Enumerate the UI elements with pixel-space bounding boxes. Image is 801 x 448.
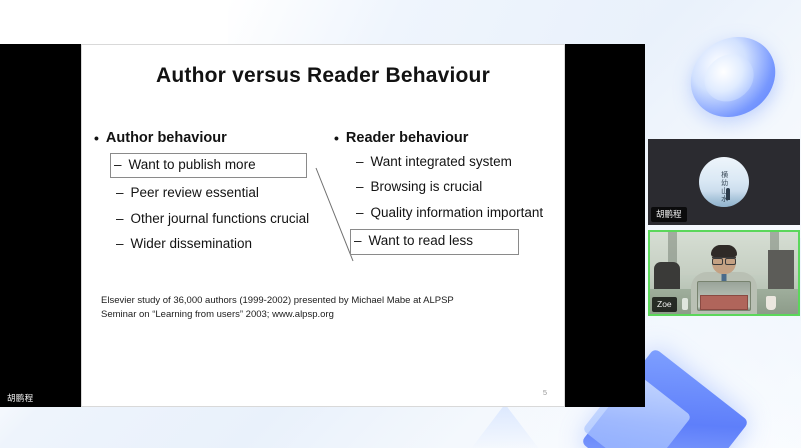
letterbox-left <box>0 44 81 407</box>
bullet-label: Want to publish more <box>129 157 256 173</box>
dash-glyph: – <box>116 185 124 201</box>
participant-tile-1[interactable]: 横幼山水 胡鹏程 <box>648 139 800 225</box>
video-laptop <box>697 281 751 311</box>
footnote-line-1: Elsevier study of 36,000 authors (1999-2… <box>101 294 541 308</box>
bullet-label: Want to read less <box>369 233 474 249</box>
bullet-glyph: • <box>94 130 99 146</box>
avatar-figure <box>726 188 730 200</box>
shared-screen-region[interactable]: Author versus Reader Behaviour • Author … <box>0 0 645 407</box>
bullet-want-integrated-system[interactable]: – Want integrated system <box>353 153 561 172</box>
glasses-icon <box>712 257 736 264</box>
dash-glyph: – <box>116 236 124 252</box>
bullet-browsing-is-crucial[interactable]: – Browsing is crucial <box>353 178 561 197</box>
column-author-behaviour: • Author behaviour – Want to publish mor… <box>91 130 341 261</box>
participant-name-label: Zoe <box>652 297 677 313</box>
bullet-label: Peer review essential <box>131 185 259 201</box>
bullet-want-to-read-less[interactable]: – Want to read less <box>350 229 519 254</box>
participant-video-strip: 横幼山水 胡鹏程 <box>645 0 801 448</box>
presentation-slide[interactable]: Author versus Reader Behaviour • Author … <box>81 44 565 407</box>
dash-glyph: – <box>116 211 124 227</box>
reader-bullet-list: – Want integrated system – Browsing is c… <box>331 153 561 255</box>
avatar: 横幼山水 <box>699 157 749 207</box>
video-cup <box>766 296 776 310</box>
column-heading-label: Reader behaviour <box>346 130 469 147</box>
zoom-meeting-window: Author versus Reader Behaviour • Author … <box>0 0 801 448</box>
bullet-label: Want integrated system <box>371 154 512 170</box>
letterbox-right <box>565 44 645 407</box>
bullet-label: Wider dissemination <box>131 236 253 252</box>
dash-glyph: – <box>114 157 122 173</box>
video-bottle <box>682 298 688 310</box>
video-nameplate <box>700 295 748 310</box>
dash-glyph: – <box>356 179 364 195</box>
participant-tile-2[interactable]: Zoe <box>648 230 800 316</box>
bullet-glyph: • <box>334 130 339 146</box>
video-chair <box>654 262 680 292</box>
footnote-line-2: Seminar on “Learning from users” 2003; w… <box>101 308 541 322</box>
slide-number: 5 <box>543 388 547 397</box>
author-bullet-list: – Want to publish more – Peer review ess… <box>91 153 341 255</box>
bullet-wider-dissemination[interactable]: – Wider dissemination <box>113 235 341 254</box>
bullet-peer-review-essential[interactable]: – Peer review essential <box>113 184 341 203</box>
bullet-other-journal-functions-crucial[interactable]: – Other journal functions crucial <box>113 210 341 229</box>
dash-glyph: – <box>356 205 364 221</box>
shared-screen-presenter-name: 胡鹏程 <box>2 391 38 407</box>
bullet-quality-information-important[interactable]: – Quality information important <box>353 204 561 223</box>
dash-glyph: – <box>354 233 362 249</box>
share-top-band-sheen <box>228 0 645 44</box>
bullet-label: Quality information important <box>371 205 544 221</box>
column-heading-author: • Author behaviour <box>91 130 341 147</box>
video-person-hair <box>711 245 737 257</box>
slide-title: Author versus Reader Behaviour <box>81 64 565 88</box>
column-heading-reader: • Reader behaviour <box>331 130 561 147</box>
bullet-want-to-publish-more[interactable]: – Want to publish more <box>110 153 307 178</box>
column-reader-behaviour: • Reader behaviour – Want integrated sys… <box>331 130 561 261</box>
column-heading-label: Author behaviour <box>106 130 227 147</box>
participant-name-label: 胡鹏程 <box>651 207 687 223</box>
slide-footnote: Elsevier study of 36,000 authors (1999-2… <box>101 294 541 322</box>
dash-glyph: – <box>356 154 364 170</box>
bullet-label: Other journal functions crucial <box>131 211 310 227</box>
bullet-label: Browsing is crucial <box>371 179 483 195</box>
